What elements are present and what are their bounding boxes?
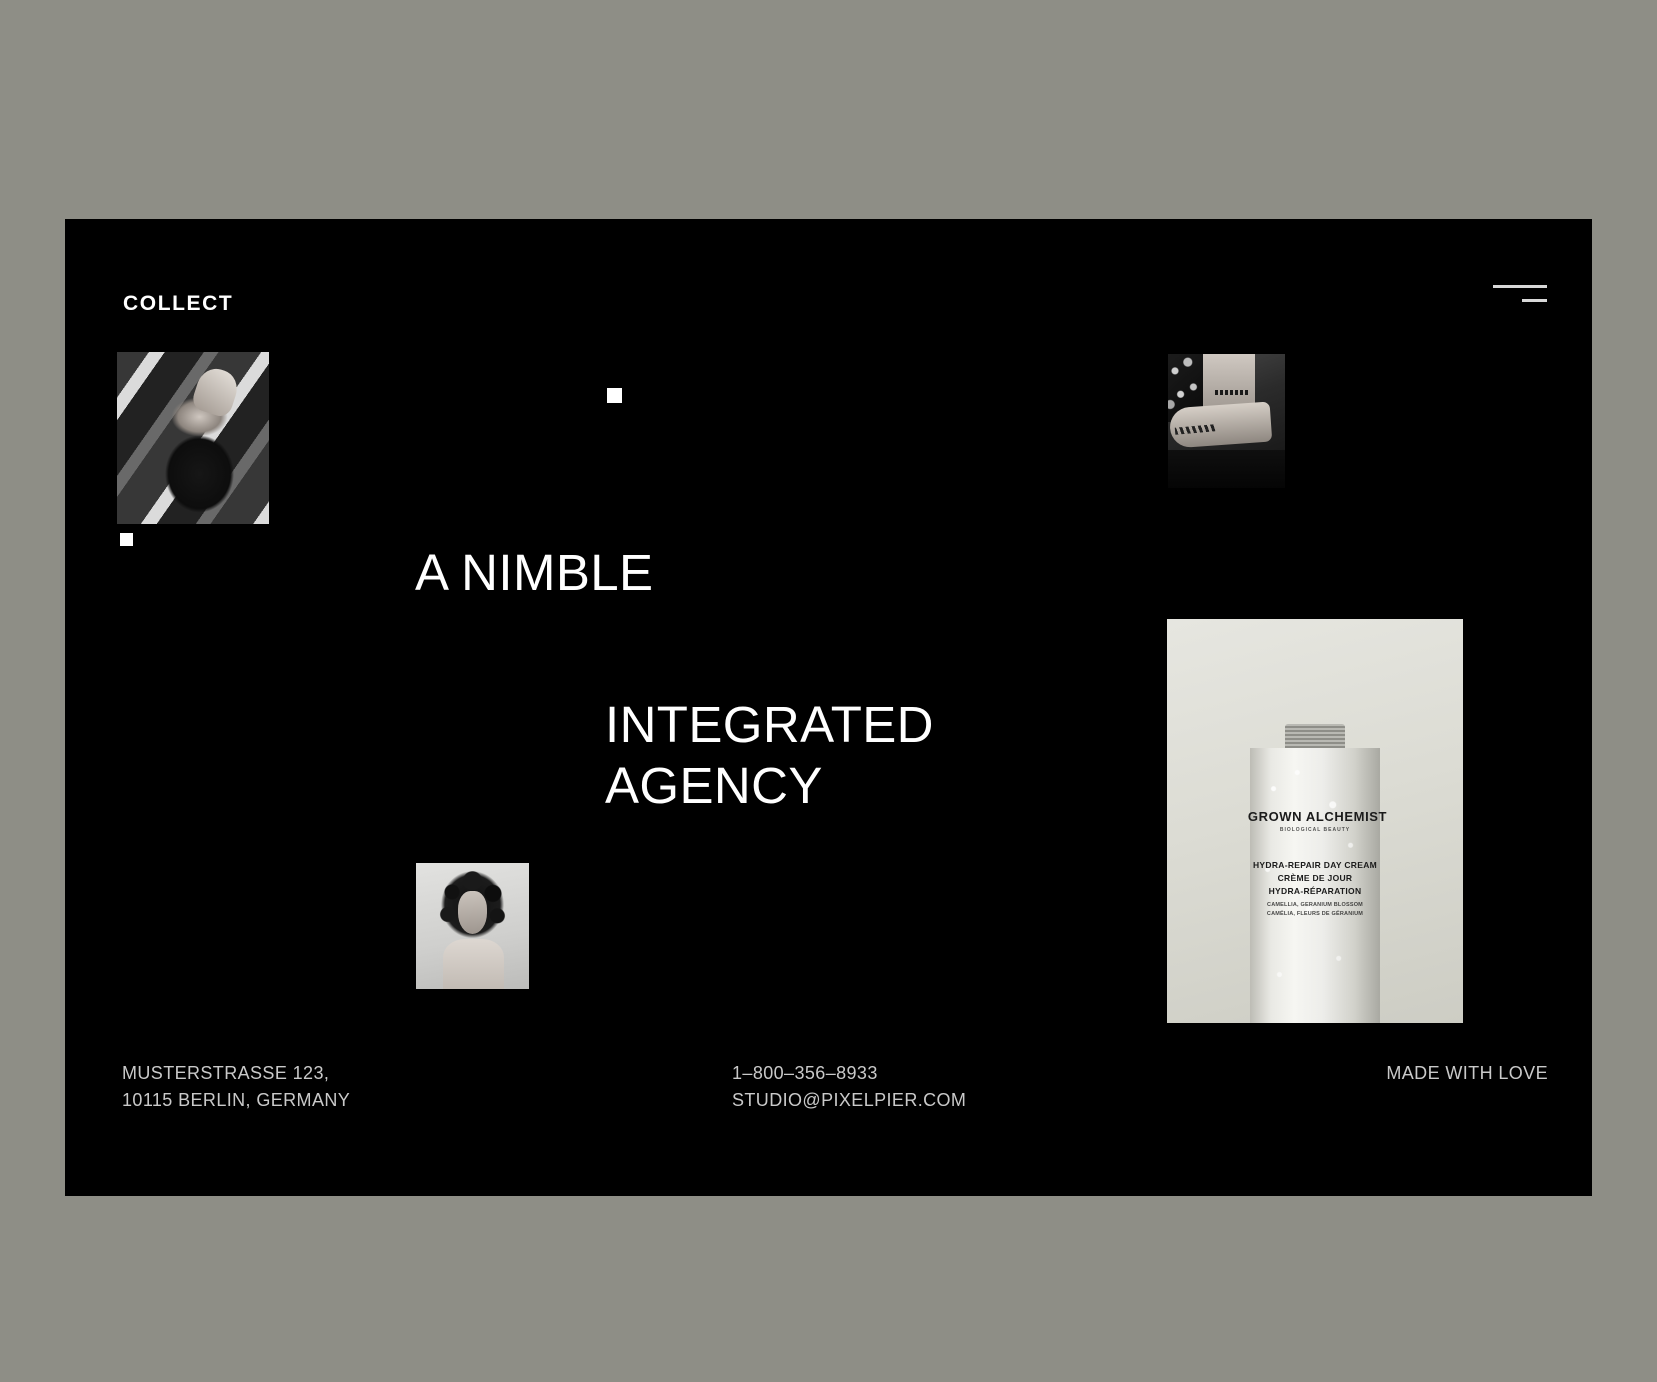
hamburger-bar-bottom [1522,299,1547,302]
page-title: A NIMBLE INTEGRATED AGENCY [415,543,1135,816]
footer-address-line-2: 10115 BERLIN, GERMANY [122,1087,350,1114]
photo-tattooed-hands-tattoo-neck [1215,390,1248,395]
product-name-en: HYDRA-REPAIR DAY CREAM [1250,859,1380,872]
headline-line-2: INTEGRATED [415,695,1135,755]
footer-contact: 1–800–356–8933 STUDIO@PIXELPIER.COM [732,1060,966,1115]
photo-tattooed-hands-garment [1168,450,1285,488]
hamburger-bar-top [1493,285,1547,288]
product-brand: GROWN ALCHEMIST [1248,809,1380,824]
product-ingredients: CAMELLIA, GERANIUM BLOSSOM CAMÉLIA, FLEU… [1250,901,1380,919]
photo-curly-hair-portrait[interactable] [416,863,529,989]
brand-logo[interactable]: COLLECT [123,293,233,314]
footer-email-link[interactable]: STUDIO@PIXELPIER.COM [732,1087,966,1114]
photo-person-stairs[interactable] [117,352,269,524]
footer-credit: MADE WITH LOVE [1386,1060,1548,1087]
footer: MUSTERSTRASSE 123, 10115 BERLIN, GERMANY… [65,1060,1592,1130]
page-root: COLLECT A NIMBLE INTEGRATED AGENCY [0,0,1657,1382]
hero-card: COLLECT A NIMBLE INTEGRATED AGENCY [65,219,1592,1196]
footer-phone-link[interactable]: 1–800–356–8933 [732,1060,966,1087]
product-name-fr-1: CRÈME DE JOUR [1250,872,1380,885]
product-ingredients-fr: CAMÉLIA, FLEURS DE GÉRANIUM [1250,910,1380,919]
photo-person-stairs-figure [157,397,242,521]
product-brand-tagline: BIOLOGICAL BEAUTY [1250,827,1380,833]
footer-address-line-1: MUSTERSTRASSE 123, [122,1060,350,1087]
photo-product-tube[interactable]: GROWN ALCHEMIST BIOLOGICAL BEAUTY HYDRA-… [1167,619,1463,1023]
photo-tattooed-hands-arm [1169,401,1272,448]
square-marker-left [120,533,133,546]
photo-curly-hair-face [458,891,487,934]
product-ingredients-en: CAMELLIA, GERANIUM BLOSSOM [1250,901,1380,910]
product-name-fr-2: HYDRA-RÉPARATION [1250,885,1380,898]
hamburger-menu-icon[interactable] [1493,277,1547,309]
headline-line-1: A NIMBLE [415,543,1135,603]
square-marker-middle [607,388,622,403]
photo-tattooed-hands[interactable] [1168,354,1285,488]
footer-address: MUSTERSTRASSE 123, 10115 BERLIN, GERMANY [122,1060,350,1115]
photo-curly-hair-body [443,939,504,989]
headline-line-3: AGENCY [415,756,1135,816]
product-name: HYDRA-REPAIR DAY CREAM CRÈME DE JOUR HYD… [1250,859,1380,899]
photo-product-label: GROWN ALCHEMIST BIOLOGICAL BEAUTY HYDRA-… [1250,809,1380,919]
